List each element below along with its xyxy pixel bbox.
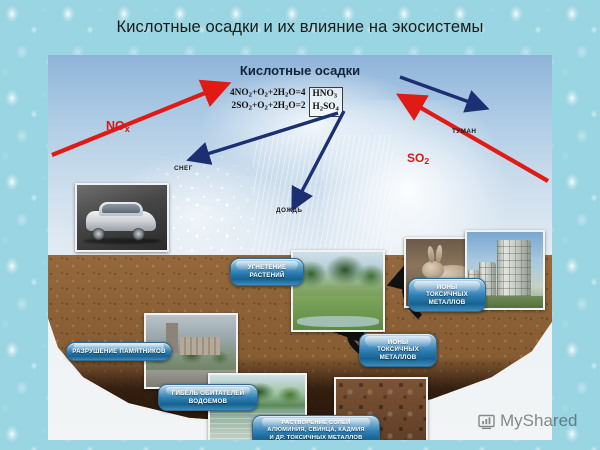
snow-label: СНЕГ xyxy=(174,165,193,172)
callout-aquatic-death[interactable]: ГИБЕЛЬ ОБИТАТЕЛЕЙ ВОДОЕМОВ xyxy=(158,384,258,411)
car-wheel-front xyxy=(92,228,105,241)
callout-plant-suppression[interactable]: УГНЕТЕНИЕ РАСТЕНИЙ xyxy=(230,258,304,286)
callout-line: МЕТАЛЛОВ xyxy=(429,299,466,307)
nox-arrow xyxy=(52,91,210,155)
car-window xyxy=(102,204,140,213)
rain-label: ДОЖДЬ xyxy=(276,207,302,214)
callout-toxic-metal-ions-lower[interactable]: ИОНЫ ТОКСИЧНЫХ МЕТАЛЛОВ xyxy=(359,333,437,367)
callout-line: ИОНЫ xyxy=(388,339,409,347)
callout-line: И ДР. ТОКСИЧНЫХ МЕТАЛЛОВ xyxy=(269,435,362,440)
callout-toxic-metal-ions-upper[interactable]: ИОНЫ ТОКСИЧНЫХ МЕТАЛЛОВ xyxy=(408,278,486,312)
callout-line: ИОНЫ xyxy=(437,284,458,292)
callout-line: ТОКСИЧНЫХ xyxy=(377,346,419,354)
callout-line: ГИБЕЛЬ ОБИТАТЕЛЕЙ xyxy=(172,390,245,398)
callout-salt-dissolution[interactable]: РАСТВОРЕНИЕ СОЛЕЙ АЛЮМИНИЯ, СВИНЦА, КАДМ… xyxy=(252,415,380,440)
slide-stage: Кислотные осадки и их влияние на экосист… xyxy=(0,0,600,450)
cooling-tower-main xyxy=(497,240,531,296)
callout-line: МЕТАЛЛОВ xyxy=(380,354,417,362)
park-tree-canopy xyxy=(293,254,383,294)
park-pond xyxy=(297,316,379,327)
monument-ruins xyxy=(180,337,220,355)
callout-line: РАСТЕНИЙ xyxy=(249,272,284,280)
rabbit-head xyxy=(422,261,444,279)
callout-line: ВОДОЕМОВ xyxy=(189,398,227,406)
nox-label: NOx xyxy=(106,119,130,134)
car-photo xyxy=(75,183,169,252)
fog-arrow xyxy=(400,77,472,103)
presentation-chart-icon xyxy=(478,413,495,430)
so2-label: SO2 xyxy=(407,151,429,166)
car-wheel-rear xyxy=(132,228,145,241)
snow-arrow xyxy=(204,113,338,155)
callout-line: УГНЕТЕНИЕ xyxy=(248,264,287,272)
myshared-watermark: MyShared xyxy=(478,411,577,431)
watermark-text: MyShared xyxy=(500,411,577,431)
diagram-canvas: Кислотные осадки 4NO2+O2+2H2O=4 2SO2+O2+… xyxy=(48,55,552,440)
callout-line: ТОКСИЧНЫХ xyxy=(426,291,468,299)
page-title: Кислотные осадки и их влияние на экосист… xyxy=(0,18,600,37)
callout-line: РАЗРУШЕНИЕ ПАМЯТНИКОВ xyxy=(72,348,165,356)
park-photo xyxy=(291,250,385,332)
rabbit-ear-right xyxy=(435,245,443,264)
callout-monument-destruction[interactable]: РАЗРУШЕНИЕ ПАМЯТНИКОВ xyxy=(66,342,172,361)
so2-arrow xyxy=(416,105,548,181)
fog-label: ТУМАН xyxy=(452,128,476,135)
callout-line: АЛЮМИНИЯ, СВИНЦА, КАДМИЯ xyxy=(267,427,364,434)
